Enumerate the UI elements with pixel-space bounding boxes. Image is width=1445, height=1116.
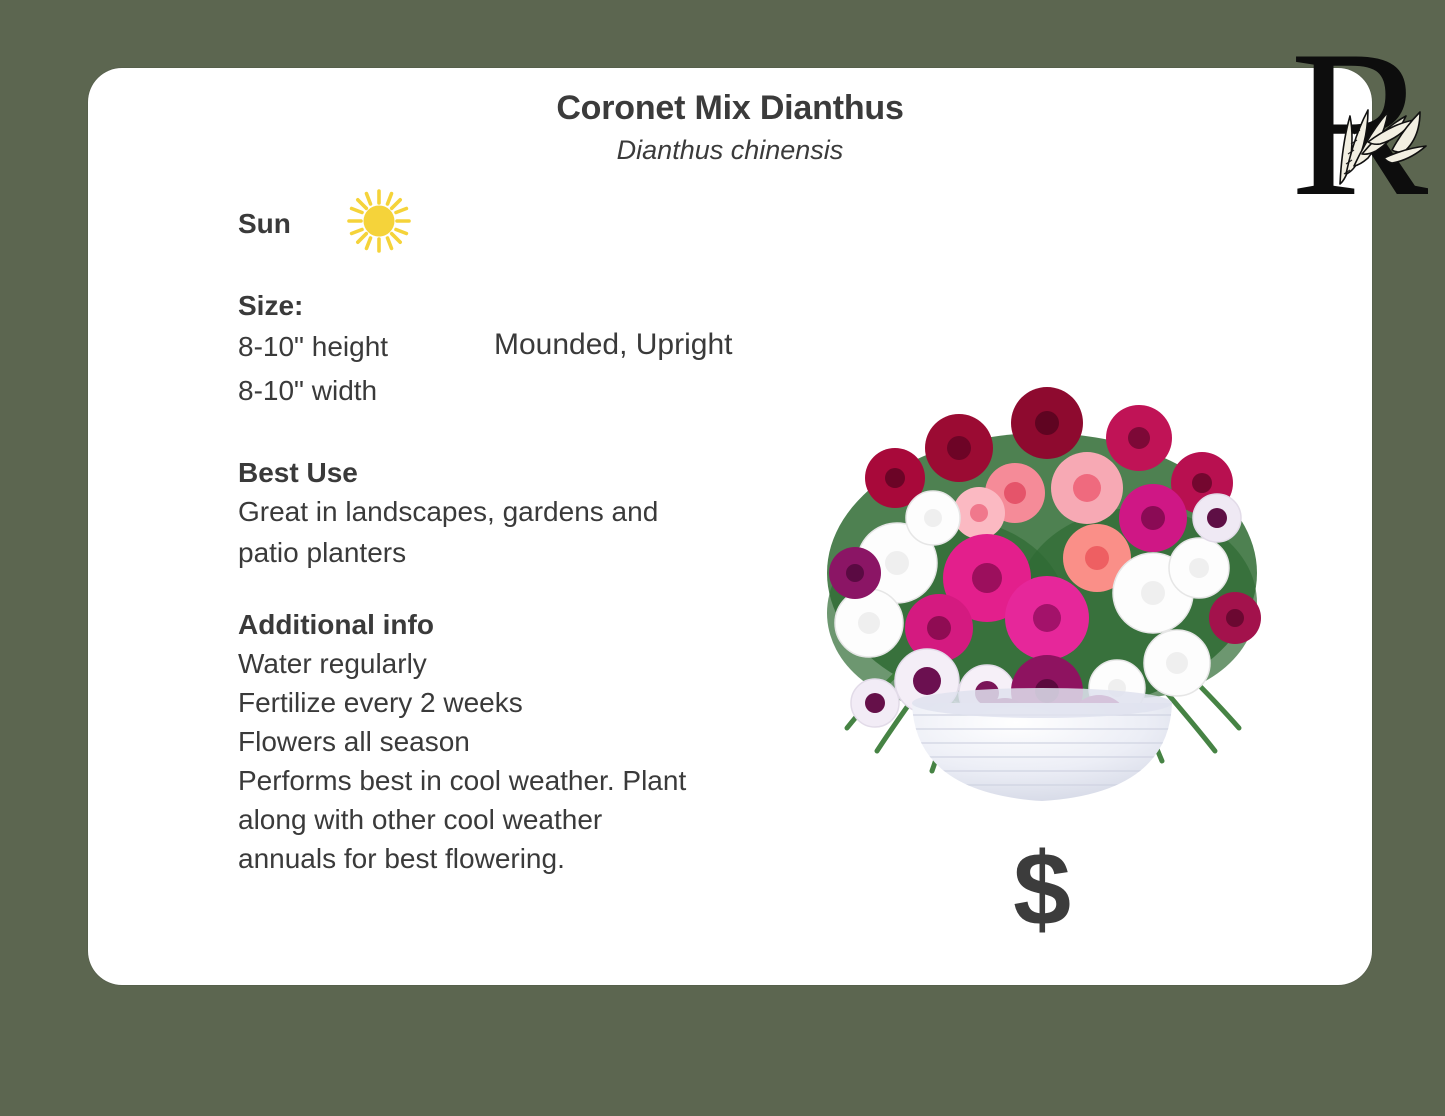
brand-logo: R xyxy=(1288,24,1428,214)
additional-info-line-4: Performs best in cool weather. Plant xyxy=(238,761,813,800)
additional-info-line-3: Flowers all season xyxy=(238,722,813,761)
plant-photo xyxy=(747,273,1337,821)
svg-text:R: R xyxy=(1290,24,1428,214)
plant-info-card: Coronet Mix Dianthus Dianthus chinensis … xyxy=(88,68,1372,985)
page-title: Coronet Mix Dianthus xyxy=(88,90,1372,127)
additional-info-line-1: Water regularly xyxy=(238,644,813,683)
additional-info-line-2: Fertilize every 2 weeks xyxy=(238,683,813,722)
botanical-name: Dianthus chinensis xyxy=(88,136,1372,166)
sun-icon xyxy=(345,187,413,260)
additional-info-line-6: annuals for best flowering. xyxy=(238,839,813,878)
sun-requirement-row: Sun xyxy=(238,186,838,260)
growth-habit: Mounded, Upright xyxy=(494,328,732,362)
card-header: Coronet Mix Dianthus Dianthus chinensis xyxy=(88,90,1372,166)
sun-label: Sun xyxy=(238,206,291,241)
additional-info-line-5: along with other cool weather xyxy=(238,800,813,839)
price-symbol: $ xyxy=(747,838,1337,942)
additional-info-text: Water regularly Fertilize every 2 weeks … xyxy=(238,644,813,879)
